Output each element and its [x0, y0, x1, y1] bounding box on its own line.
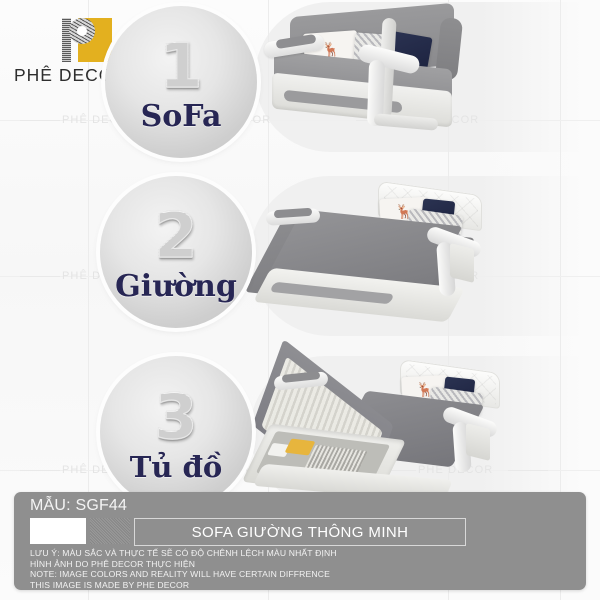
watermark-dash	[20, 276, 60, 277]
product-info-bar: MẪU: SGF44 SOFA GIƯỜNG THÔNG MINH LƯU Ý:…	[14, 492, 586, 590]
color-swatch-white	[30, 518, 86, 544]
note-line: LƯU Ý: MÀU SẮC VÀ THỰC TẾ SẼ CÓ ĐỘ CHÊNH…	[30, 548, 572, 559]
feature-label-bed: Giường	[115, 272, 237, 302]
feature-badge-bed: 2 Giường	[100, 176, 252, 328]
feature-label-sofa: SoFa	[141, 102, 222, 132]
note-line: THIS IMAGE IS MADE BY PHE DECOR	[30, 580, 572, 591]
disclaimer-notes: LƯU Ý: MÀU SẮC VÀ THỰC TẾ SẼ CÓ ĐỘ CHÊNH…	[30, 548, 572, 590]
product-photo-bed: 🦌	[258, 182, 518, 332]
feature-number-3: 3	[146, 385, 206, 449]
note-line: NOTE: IMAGE COLORS AND REALITY WILL HAVE…	[30, 569, 572, 580]
product-photo-sofa: 🦌	[262, 4, 512, 144]
logo-mark-icon	[60, 16, 112, 64]
feature-badge-storage: 3 Tủ đồ	[100, 356, 252, 508]
watermark-dash	[20, 120, 60, 121]
product-photo-storage: 🦌	[254, 360, 524, 510]
watermark-dash	[20, 470, 60, 471]
feature-label-storage: Tủ đồ	[130, 453, 222, 482]
deer-print-icon: 🦌	[322, 41, 340, 56]
note-line: HÌNH ẢNH DO PHÊ DECOR THỰC HIỆN	[30, 559, 572, 570]
feature-number-2: 2	[146, 204, 206, 268]
infographic-canvas: PHÊ DECOR PHÊ DECOR PHÊ DECOR PHÊ DECOR …	[0, 0, 600, 600]
feature-badge-sofa: 1 SoFa	[105, 6, 257, 158]
product-title: SOFA GIƯỜNG THÔNG MINH	[134, 518, 466, 546]
model-code: MẪU: SGF44	[30, 497, 127, 515]
color-swatch-grey-fabric	[90, 518, 130, 544]
feature-number-1: 1	[151, 34, 211, 98]
